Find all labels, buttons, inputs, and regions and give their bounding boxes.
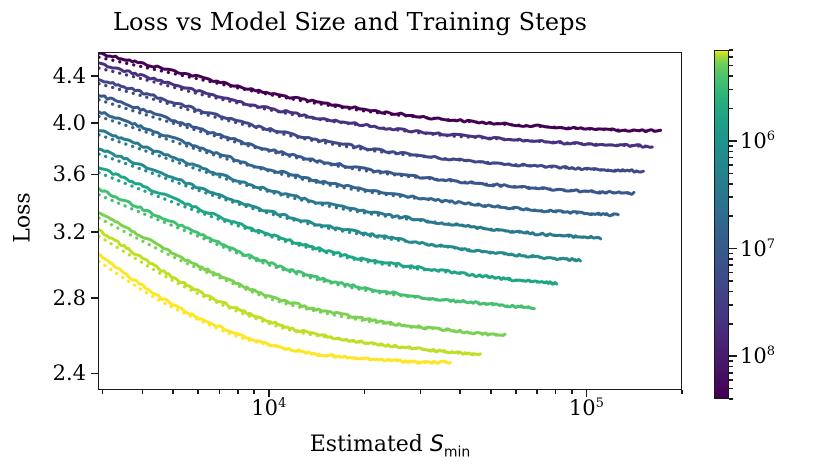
y-tick-label: 2.8 [53,286,86,310]
colorbar-tick-minor [729,304,733,306]
y-tick-mark [91,174,98,176]
x-axis-label: Estimated Smin [98,432,682,460]
x-tick-label: 105 [569,396,604,420]
colorbar-tick-minor [729,173,733,175]
x-tick-minor [102,390,104,394]
colorbar-tick-minor [729,56,733,58]
colorbar-tick-minor [729,215,733,217]
curve-layer [99,53,682,390]
fit-curve-dotted [99,218,505,335]
x-tick-minor [490,390,492,394]
x-axis-label-subscript: min [444,444,470,460]
colorbar-tick-minor [729,366,733,368]
colorbar-tick-major [729,248,737,250]
colorbar-tick-minor [729,280,733,282]
x-tick-minor [253,390,255,394]
y-tick-label: 2.4 [53,361,86,385]
loss-curve-solid [99,53,661,131]
y-tick-mark [91,122,98,124]
y-tick-mark [91,75,98,77]
colorbar-tick-minor [729,272,733,274]
colorbar-tick-minor [729,196,733,198]
colorbar-tick-minor [729,253,733,255]
colorbar-tick-minor [729,75,733,77]
x-tick-minor [515,390,517,394]
x-tick-minor [364,390,366,394]
colorbar-tick-label: 108 [740,344,775,368]
colorbar-tick-minor [729,145,733,147]
y-tick-label: 3.6 [53,162,86,186]
colorbar-tick-minor [729,388,733,390]
plot-area [98,52,682,390]
x-axis-label-prefix: Estimated [310,432,430,457]
colorbar-tick-minor [729,258,733,260]
y-tick-mark [91,231,98,233]
colorbar-tick-minor [729,398,733,400]
y-tick-label: 4.4 [53,64,86,88]
colorbar-tick-minor [729,264,733,266]
colorbar-tick-label: 107 [740,237,775,261]
x-tick-minor [172,390,174,394]
y-axis-label: Loss [11,173,36,263]
colorbar-tick-minor [729,89,733,91]
x-tick-minor [459,390,461,394]
colorbar-tick-minor [729,151,733,153]
y-tick-mark [91,373,98,375]
colorbar-tick-minor [729,65,733,67]
y-tick-label: 3.2 [53,220,86,244]
colorbar-tick-minor [729,291,733,293]
colorbar-tick-minor [729,323,733,325]
colorbar-tick-minor [729,157,733,159]
colorbar-tick-minor [729,183,733,185]
x-tick-minor [536,390,538,394]
colorbar-tick-major [729,355,737,357]
colorbar-gradient [714,50,729,399]
x-tick-minor [681,390,683,394]
colorbar-tick-label: 106 [740,129,775,153]
x-tick-minor [197,390,199,394]
colorbar-tick-major [729,140,737,142]
x-tick-minor [571,390,573,394]
x-tick-minor [142,390,144,394]
chart-title: Loss vs Model Size and Training Steps [0,8,700,36]
y-tick-mark [91,297,98,299]
colorbar-tick-minor [729,372,733,374]
colorbar-tick-minor [729,164,733,166]
x-axis-label-symbol: S [430,432,444,457]
y-tick-label: 4.0 [53,111,86,135]
colorbar-tick-minor [729,379,733,381]
colorbar-tick-minor [729,108,733,110]
chart-root: Loss vs Model Size and Training Steps Lo… [0,0,832,472]
x-tick-minor [237,390,239,394]
x-tick-minor [420,390,422,394]
colorbar-tick-minor [729,360,733,362]
x-tick-minor [219,390,221,394]
x-tick-label: 104 [251,396,286,420]
fit-curve-dotted [99,57,661,131]
x-tick-minor [555,390,557,394]
colorbar-tick-minor [729,49,733,51]
